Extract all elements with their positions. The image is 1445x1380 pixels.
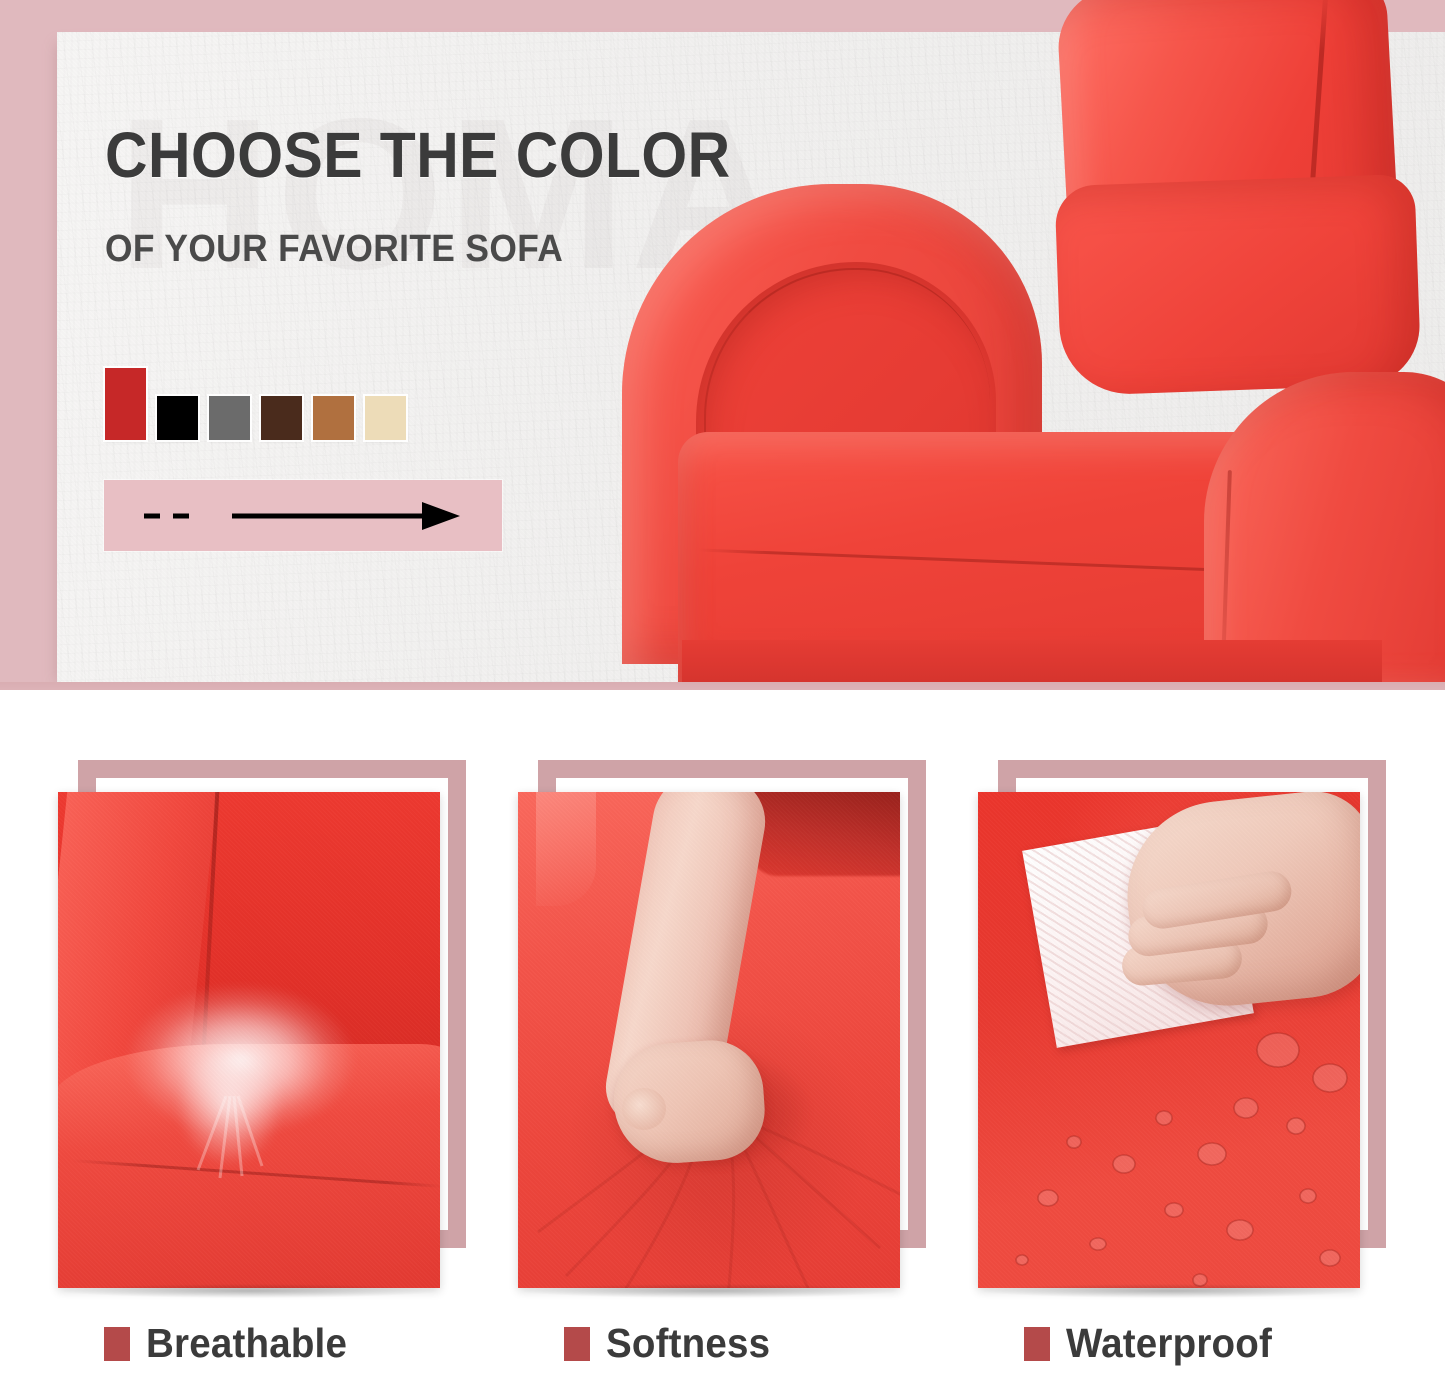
color-selection-arrow-bar [104, 480, 502, 551]
bullet-square-icon [104, 1327, 130, 1361]
page-title: CHOOSE THE COLOR [105, 118, 731, 192]
feature-label-breathable: Breathable [104, 1320, 360, 1367]
swatch-tan-brown[interactable] [313, 396, 354, 440]
knuckle [622, 1088, 666, 1130]
hero-product-image [612, 0, 1445, 690]
feature-label-text: Softness [606, 1320, 770, 1367]
swatch-gray[interactable] [209, 396, 250, 440]
water-droplets [978, 1022, 1360, 1288]
panel-frame-top [998, 760, 1386, 778]
swatch-black[interactable] [157, 396, 198, 440]
chair-lower-back-cushion [1054, 174, 1421, 396]
panel-frame-right [908, 760, 926, 1248]
feature-image-breathable [58, 792, 440, 1288]
feature-label-softness: Softness [564, 1320, 781, 1367]
panel-frame-top [78, 760, 466, 778]
feature-label-text: Breathable [146, 1320, 347, 1367]
photo-drop-shadow [64, 1284, 436, 1298]
bullet-square-icon [564, 1327, 590, 1361]
feature-panel-breathable: Breathable [48, 716, 508, 1380]
feature-panel-softness: Softness [508, 716, 968, 1380]
bullet-square-icon [1024, 1327, 1050, 1361]
hero-section: HOMA CHOOSE THE COLOR OF YOUR FAVORITE S… [0, 0, 1445, 690]
color-swatch-row[interactable] [105, 368, 406, 440]
panel-frame-top [538, 760, 926, 778]
mist-cloud-secondary [154, 1050, 304, 1190]
photo-drop-shadow [984, 1284, 1356, 1298]
swatch-dark-brown[interactable] [261, 396, 302, 440]
swatch-red[interactable] [105, 368, 146, 440]
feature-panels: Breathable [0, 716, 1445, 1380]
hero-bottom-band [0, 682, 1445, 690]
photo-drop-shadow [524, 1284, 896, 1298]
feature-label-waterproof: Waterproof [1024, 1320, 1285, 1367]
right-arrow-icon [104, 480, 502, 551]
fingers [1120, 888, 1330, 1018]
panel-frame-right [448, 760, 466, 1248]
feature-image-softness [518, 792, 900, 1288]
feature-label-text: Waterproof [1066, 1320, 1272, 1367]
product-feature-infographic: HOMA CHOOSE THE COLOR OF YOUR FAVORITE S… [0, 0, 1445, 1380]
page-subtitle: OF YOUR FAVORITE SOFA [105, 228, 563, 271]
panel-frame-right [1368, 760, 1386, 1248]
feature-image-waterproof [978, 792, 1360, 1288]
feature-panel-waterproof: Waterproof [968, 716, 1428, 1380]
swatch-cream[interactable] [365, 396, 406, 440]
